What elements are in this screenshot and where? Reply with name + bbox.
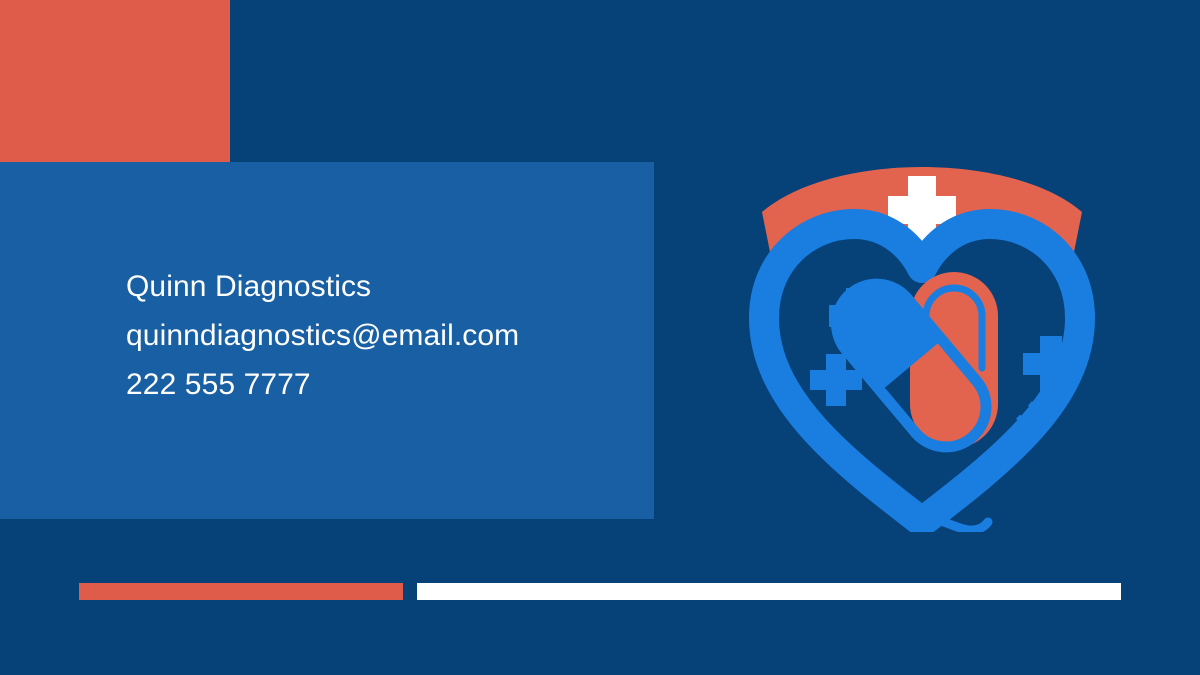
business-card-canvas: Quinn Diagnostics quinndiagnostics@email…: [0, 0, 1200, 675]
footer-rule-red: [79, 583, 403, 600]
contact-details: Quinn Diagnostics quinndiagnostics@email…: [126, 262, 646, 409]
footer-rule-white: [417, 583, 1121, 600]
top-left-red-block: [0, 0, 230, 162]
company-name: Quinn Diagnostics: [126, 262, 646, 311]
company-logo: [722, 132, 1122, 532]
email-address[interactable]: quinndiagnostics@email.com: [126, 311, 646, 360]
phone-number[interactable]: 222 555 7777: [126, 360, 646, 409]
